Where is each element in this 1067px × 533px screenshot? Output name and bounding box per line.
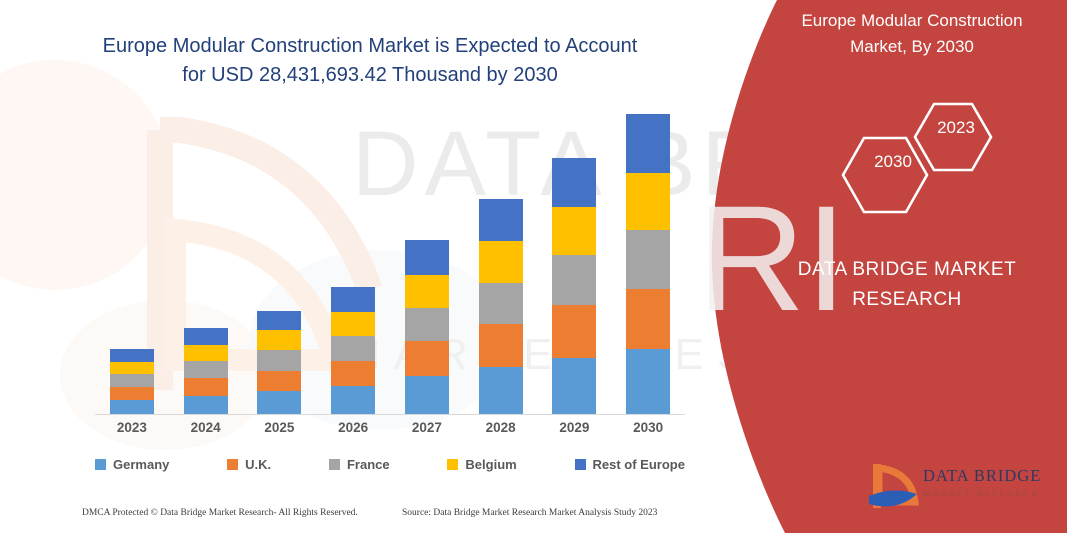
hexagon-label-2030: 2030 xyxy=(853,152,933,172)
branding-panel: RI Europe Modular Construction Market, B… xyxy=(707,0,1067,533)
x-axis-label-2030: 2030 xyxy=(615,420,681,435)
company-logo: DATA BRIDGE MARKET RESEARCH xyxy=(867,458,1057,514)
logo-mark-icon xyxy=(867,462,921,514)
segment-belgium-2025 xyxy=(257,330,301,350)
panel-brand-name: DATA BRIDGE MARKET RESEARCH xyxy=(762,255,1052,316)
legend-item-u-k-: U.K. xyxy=(227,457,271,472)
legend-item-germany: Germany xyxy=(95,457,169,472)
chart-infographic: DATA BRIDGE MARKET RESEARCH Europe Modul… xyxy=(0,0,1067,533)
legend-swatch-icon xyxy=(329,459,340,470)
legend-swatch-icon xyxy=(575,459,586,470)
segment-france-2023 xyxy=(110,374,154,387)
segment-u-k--2029 xyxy=(552,305,596,357)
segment-germany-2025 xyxy=(257,391,301,414)
brand-line-2: RESEARCH xyxy=(852,289,962,310)
segment-germany-2027 xyxy=(405,376,449,414)
legend-label: Rest of Europe xyxy=(593,457,685,472)
segment-germany-2026 xyxy=(331,386,375,414)
x-axis-label-2029: 2029 xyxy=(541,420,607,435)
segment-belgium-2023 xyxy=(110,362,154,374)
footer-source: Source: Data Bridge Market Research Mark… xyxy=(402,508,657,518)
footer-copyright: DMCA Protected © Data Bridge Market Rese… xyxy=(82,508,358,518)
hexagon-pair: 2030 2023 xyxy=(837,100,1017,220)
segment-rest-of-europe-2024 xyxy=(184,328,228,344)
legend-swatch-icon xyxy=(447,459,458,470)
segment-france-2027 xyxy=(405,308,449,342)
legend-item-france: France xyxy=(329,457,390,472)
legend-swatch-icon xyxy=(95,459,106,470)
hexagon-2030-shape xyxy=(843,138,927,212)
bar-2028 xyxy=(479,199,523,414)
panel-title-line-2: Market, By 2030 xyxy=(850,37,974,56)
headline-line-2: for USD 28,431,693.42 Thousand by 2030 xyxy=(182,64,557,86)
brand-line-1: DATA BRIDGE MARKET xyxy=(798,259,1016,280)
chart-plot-area xyxy=(95,100,685,415)
stacked-bar-chart xyxy=(95,100,685,415)
segment-germany-2023 xyxy=(110,400,154,414)
bar-2025 xyxy=(257,311,301,414)
legend-label: France xyxy=(347,457,390,472)
panel-title-line-1: Europe Modular Construction xyxy=(801,11,1022,30)
segment-belgium-2024 xyxy=(184,345,228,361)
bar-2024 xyxy=(184,328,228,414)
segment-belgium-2030 xyxy=(626,173,670,231)
legend-label: Belgium xyxy=(465,457,516,472)
bar-2029 xyxy=(552,158,596,414)
segment-germany-2030 xyxy=(626,349,670,414)
x-axis-label-2024: 2024 xyxy=(173,420,239,435)
segment-u-k--2028 xyxy=(479,324,523,367)
segment-rest-of-europe-2027 xyxy=(405,240,449,275)
segment-u-k--2023 xyxy=(110,387,154,400)
x-axis-line xyxy=(95,414,685,415)
segment-rest-of-europe-2025 xyxy=(257,311,301,331)
segment-germany-2029 xyxy=(552,358,596,414)
logo-title: DATA BRIDGE xyxy=(923,466,1055,486)
segment-rest-of-europe-2026 xyxy=(331,287,375,312)
segment-belgium-2029 xyxy=(552,207,596,256)
segment-belgium-2027 xyxy=(405,275,449,308)
segment-belgium-2028 xyxy=(479,241,523,282)
logo-text: DATA BRIDGE MARKET RESEARCH xyxy=(923,466,1055,498)
legend-label: Germany xyxy=(113,457,169,472)
segment-u-k--2026 xyxy=(331,361,375,386)
legend-item-rest-of-europe: Rest of Europe xyxy=(575,457,685,472)
x-axis-labels: 20232024202520262027202820292030 xyxy=(95,420,685,442)
segment-belgium-2026 xyxy=(331,312,375,336)
segment-u-k--2024 xyxy=(184,378,228,395)
x-axis-label-2027: 2027 xyxy=(394,420,460,435)
segment-france-2025 xyxy=(257,350,301,371)
segment-germany-2028 xyxy=(479,367,523,414)
bar-2030 xyxy=(626,114,670,414)
segment-rest-of-europe-2028 xyxy=(479,199,523,241)
logo-subtitle: MARKET RESEARCH xyxy=(923,489,1055,498)
segment-u-k--2027 xyxy=(405,341,449,376)
chart-legend: GermanyU.K.FranceBelgiumRest of Europe xyxy=(95,452,685,476)
segment-rest-of-europe-2023 xyxy=(110,349,154,362)
segment-u-k--2025 xyxy=(257,371,301,392)
footer: DMCA Protected © Data Bridge Market Rese… xyxy=(82,508,682,526)
bar-2027 xyxy=(405,240,449,414)
x-axis-label-2025: 2025 xyxy=(246,420,312,435)
segment-france-2030 xyxy=(626,230,670,289)
bar-2026 xyxy=(331,287,375,414)
x-axis-label-2023: 2023 xyxy=(99,420,165,435)
segment-germany-2024 xyxy=(184,396,228,414)
segment-u-k--2030 xyxy=(626,289,670,349)
page-title: Europe Modular Construction Market is Ex… xyxy=(60,32,680,90)
hexagon-label-2023: 2023 xyxy=(916,118,996,138)
segment-rest-of-europe-2029 xyxy=(552,158,596,207)
legend-swatch-icon xyxy=(227,459,238,470)
segment-france-2026 xyxy=(331,336,375,361)
headline-line-1: Europe Modular Construction Market is Ex… xyxy=(103,35,638,57)
bar-2023 xyxy=(110,349,154,414)
legend-label: U.K. xyxy=(245,457,271,472)
x-axis-label-2026: 2026 xyxy=(320,420,386,435)
segment-france-2024 xyxy=(184,361,228,378)
panel-title: Europe Modular Construction Market, By 2… xyxy=(767,8,1057,59)
segment-france-2028 xyxy=(479,283,523,324)
x-axis-label-2028: 2028 xyxy=(468,420,534,435)
segment-france-2029 xyxy=(552,255,596,305)
segment-rest-of-europe-2030 xyxy=(626,114,670,173)
legend-item-belgium: Belgium xyxy=(447,457,516,472)
